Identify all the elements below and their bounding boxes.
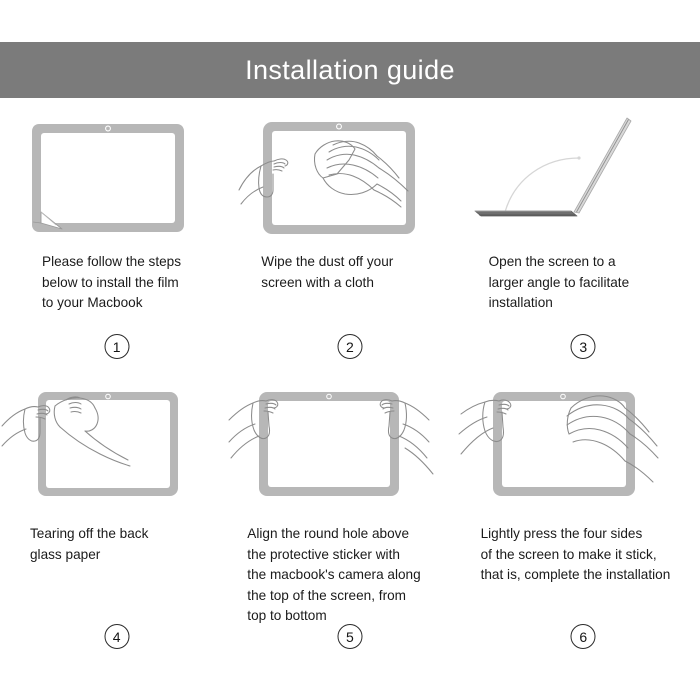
step-3-caption: Open the screen to a larger angle to fac… [467,252,640,314]
step-card-6: Lightly press the four sides of the scre… [467,384,700,656]
step-2-number-badge: 2 [337,334,362,359]
header-band: Installation guide [0,42,700,98]
step-card-4: Tearing off the back glass paper 4 [0,384,233,656]
step-card-2: Wipe the dust off your screen with a clo… [233,112,466,384]
step-1-illustration [0,112,233,240]
page-title: Installation guide [245,57,455,84]
step-6-number-badge: 6 [571,624,596,649]
step-5-number-badge: 5 [337,624,362,649]
step-6-caption: Lightly press the four sides of the scre… [467,524,681,586]
step-card-5: Align the round hole above the protectiv… [233,384,466,656]
step-3-illustration [467,112,700,240]
step-4-number: 4 [113,630,121,644]
step-2-number: 2 [346,340,354,354]
step-2-caption: Wipe the dust off your screen with a clo… [233,252,403,293]
step-4-caption: Tearing off the back glass paper [0,524,158,565]
step-4-illustration [0,384,233,512]
step-3-number-badge: 3 [571,334,596,359]
step-card-3: Open the screen to a larger angle to fac… [467,112,700,384]
installation-guide-page: Installation guide Please follow the ste… [0,0,700,700]
step-5-number: 5 [346,630,354,644]
step-5-illustration [233,384,466,512]
step-card-1: Please follow the steps below to install… [0,112,233,384]
step-5-caption: Align the round hole above the protectiv… [233,524,430,627]
step-4-number-badge: 4 [104,624,129,649]
step-6-illustration [467,384,700,512]
step-2-illustration [233,112,466,240]
step-3-number: 3 [579,340,587,354]
steps-grid: Please follow the steps below to install… [0,112,700,656]
step-6-number: 6 [579,630,587,644]
step-1-number: 1 [113,340,121,354]
step-1-number-badge: 1 [104,334,129,359]
step-1-caption: Please follow the steps below to install… [0,252,191,314]
